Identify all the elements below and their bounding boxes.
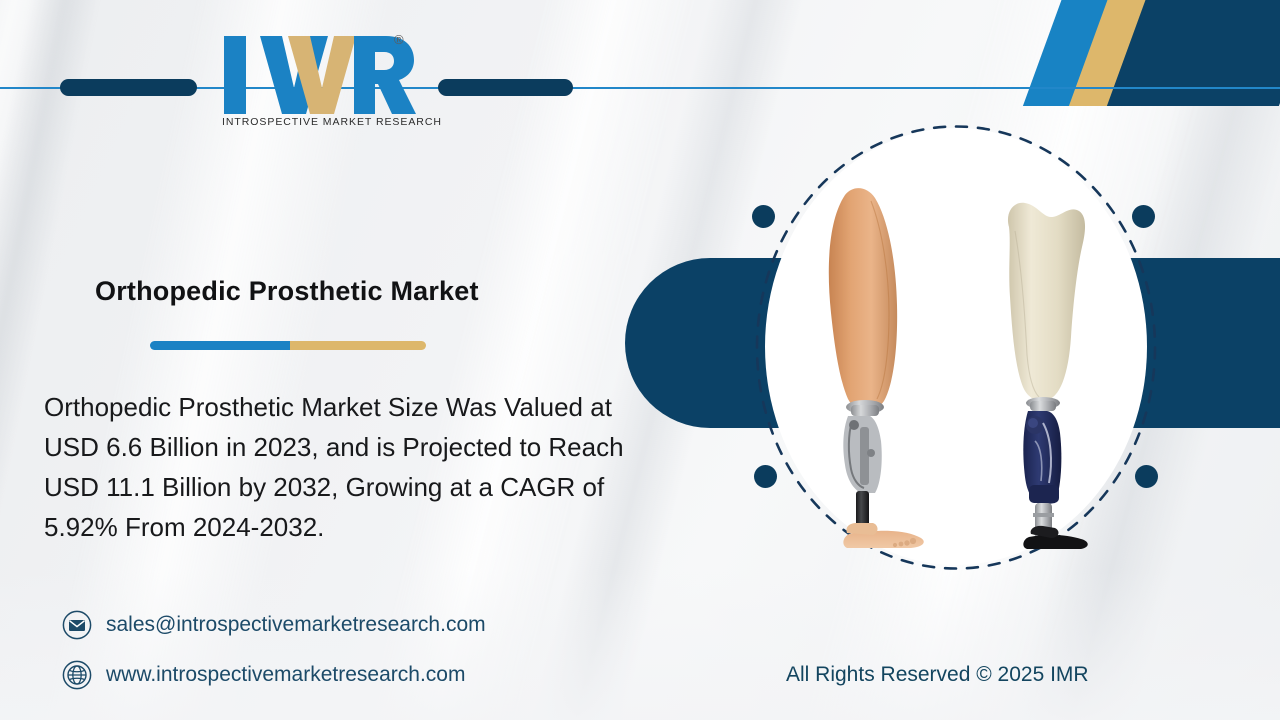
contact-website-text: www.introspectivemarketresearch.com	[106, 663, 465, 687]
market-summary-text: Orthopedic Prosthetic Market Size Was Va…	[44, 387, 634, 547]
envelope-icon	[62, 610, 92, 640]
page-title: Orthopedic Prosthetic Market	[95, 276, 479, 307]
header-pill-right	[438, 79, 573, 96]
logo-letter-i	[224, 36, 246, 114]
ring-dot-bottom-right	[1135, 465, 1158, 488]
contact-website[interactable]: www.introspectivemarketresearch.com	[62, 660, 465, 690]
ring-dot-top-right	[1132, 205, 1155, 228]
title-divider	[150, 341, 426, 350]
logo-tagline: INTROSPECTIVE MARKET RESEARCH	[222, 116, 422, 128]
corner-stripes-decoration	[1020, 0, 1280, 96]
ring-dot-top-left	[752, 205, 775, 228]
contact-email[interactable]: sales@introspectivemarketresearch.com	[62, 610, 486, 640]
copyright-notice: All Rights Reserved © 2025 IMR	[786, 663, 1089, 687]
divider-segment-tan	[290, 341, 426, 350]
imr-logo[interactable]: ® INTROSPECTIVE MARKET RESEARCH	[222, 26, 422, 141]
prosthetic-leg-left-image	[815, 185, 945, 550]
divider-segment-blue	[150, 341, 290, 350]
marketing-banner: ® INTROSPECTIVE MARKET RESEARCH Orthoped…	[0, 0, 1280, 720]
background-bottom-fade	[0, 570, 1280, 720]
logo-letter-r	[354, 36, 416, 114]
contact-email-text: sales@introspectivemarketresearch.com	[106, 613, 486, 637]
prosthetic-leg-right-image	[985, 185, 1115, 550]
registered-trademark-symbol: ®	[394, 32, 404, 47]
ring-dot-bottom-left	[754, 465, 777, 488]
globe-icon	[62, 660, 92, 690]
logo-letterforms: ®	[222, 26, 422, 114]
logo-letter-m	[260, 36, 356, 114]
header-pill-left	[60, 79, 197, 96]
